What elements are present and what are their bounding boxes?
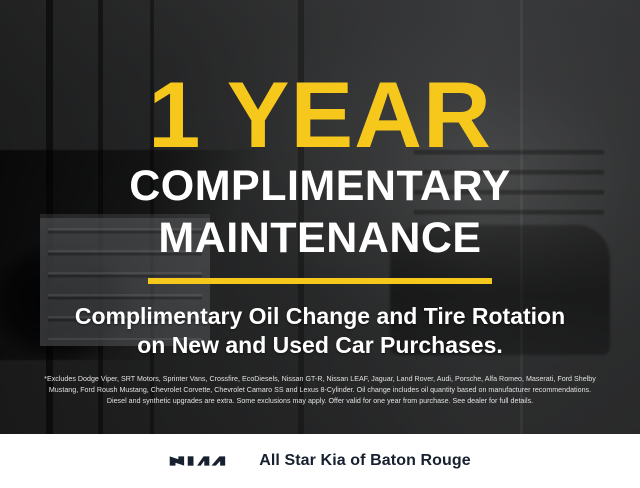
disclaimer-line-2: Mustang, Ford Roush Mustang, Chevrolet C… xyxy=(16,385,624,396)
yellow-divider-bar xyxy=(148,278,492,284)
offer-description-line-2: on New and Used Car Purchases. xyxy=(137,331,503,360)
disclaimer-line-3: Diesel and synthetic upgrades are extra.… xyxy=(16,396,624,407)
headline-1-year: 1 YEAR xyxy=(148,72,492,158)
disclaimer-line-1: *Excludes Dodge Viper, SRT Motors, Sprin… xyxy=(16,374,624,385)
subheadline-maintenance: MAINTENANCE xyxy=(158,216,481,262)
service-offer-banner: 1 YEAR COMPLIMENTARY MAINTENANCE Complim… xyxy=(0,0,640,488)
kia-logo-icon xyxy=(169,451,241,471)
dealer-footer: All Star Kia of Baton Rouge xyxy=(0,434,640,488)
subheadline-complimentary: COMPLIMENTARY xyxy=(129,164,511,210)
dealer-name-label: All Star Kia of Baton Rouge xyxy=(259,452,471,470)
offer-description-line-1: Complimentary Oil Change and Tire Rotati… xyxy=(75,302,565,331)
banner-content: 1 YEAR COMPLIMENTARY MAINTENANCE Complim… xyxy=(0,0,640,434)
disclaimer-text: *Excludes Dodge Viper, SRT Motors, Sprin… xyxy=(16,374,624,406)
